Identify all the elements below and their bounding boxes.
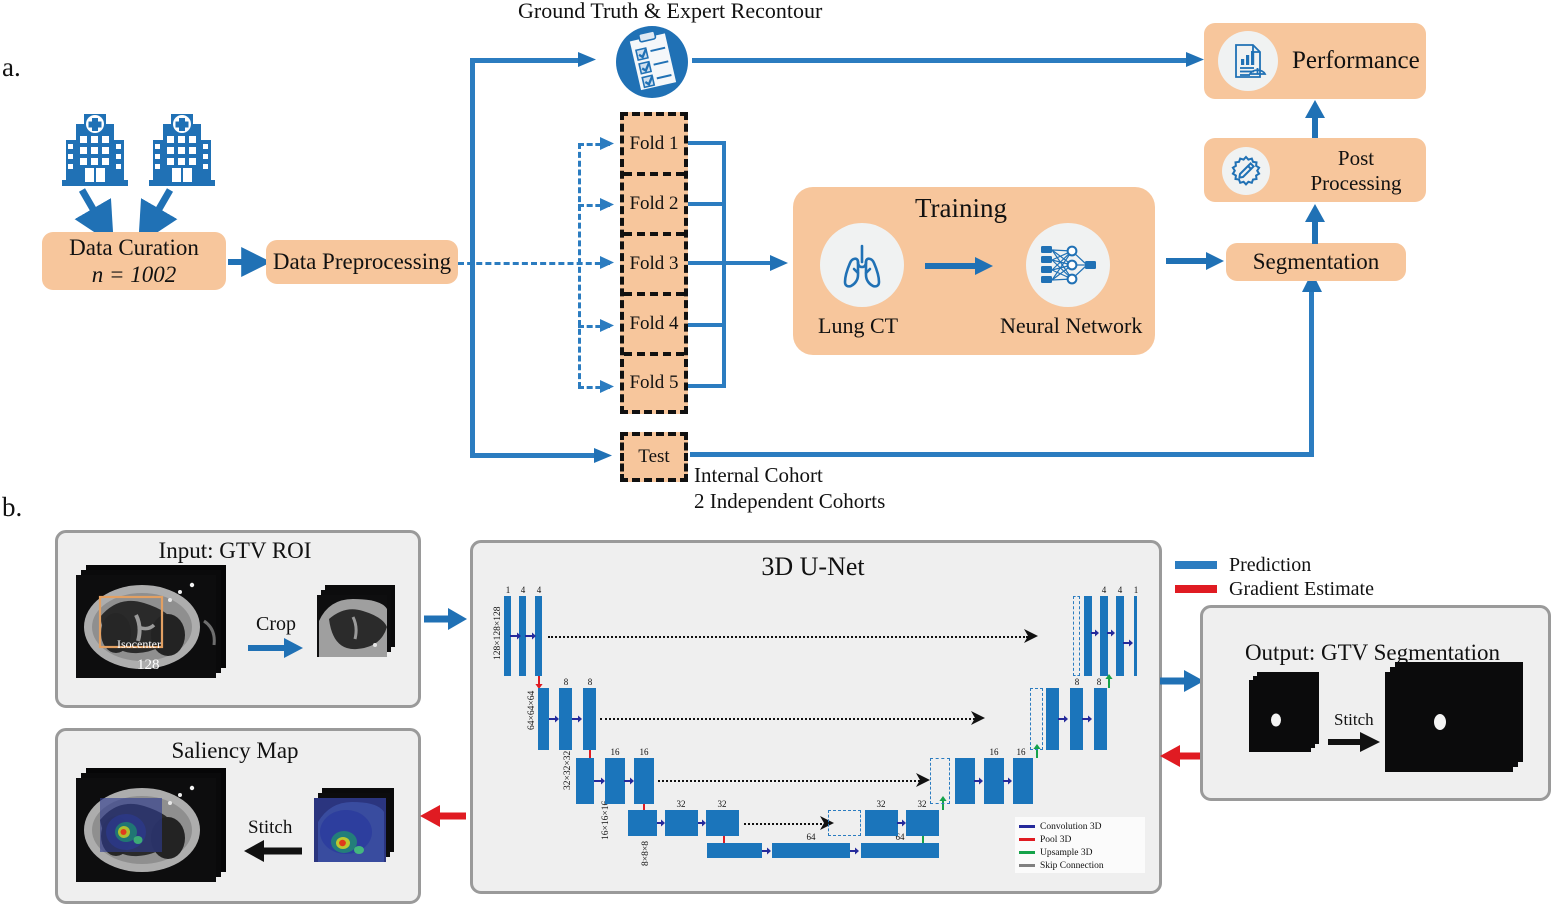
unet-encoder-block <box>634 758 654 804</box>
unet-channel-label: 1 <box>1128 585 1144 595</box>
test-label: Test <box>638 446 669 468</box>
post-processing-line2: Processing <box>1296 171 1416 196</box>
preprocessing-dashed-arrow <box>600 255 618 271</box>
unet-title: 3D U-Net <box>470 552 1156 582</box>
unet-conv-arrow <box>1091 628 1119 638</box>
fold4-collector-line <box>688 323 726 327</box>
unet-conv-arrow <box>549 714 583 724</box>
unet-legend-item: Convolution 3D <box>1019 820 1141 833</box>
unet-output-block <box>1134 596 1137 676</box>
test-box[interactable]: Test <box>620 432 688 482</box>
trunk-to-gt-arrow <box>578 50 600 72</box>
unet-channel-label: 8 <box>1068 677 1086 687</box>
unet-channel-label: 4 <box>515 585 531 595</box>
lungs-icon <box>820 223 904 307</box>
unet-legend-item: Skip Connection <box>1019 859 1141 872</box>
fold-cell[interactable]: Fold 3 <box>624 236 684 296</box>
fold2-dashed-arrow <box>600 197 618 213</box>
saliency-patch-stack <box>312 788 402 872</box>
unet-conv-arrow <box>1058 714 1070 724</box>
unet-channel-label: 16 <box>603 747 627 757</box>
unet-skip-concat-placeholder <box>1030 688 1043 750</box>
test-to-segmentation-line <box>690 452 1314 457</box>
fold-cell[interactable]: Fold 1 <box>624 116 684 176</box>
unet-conv-arrow <box>762 846 773 856</box>
fold-distributor-dashed-line <box>578 143 581 388</box>
post-processing-line1: Post <box>1296 146 1416 171</box>
gradient-estimate-swatch <box>1175 585 1217 593</box>
unet-legend-label: Upsample 3D <box>1040 848 1093 858</box>
post-to-performance-arrow <box>1304 100 1326 140</box>
panel-b-letter: b. <box>2 492 22 523</box>
gradient-to-saliency-arrow <box>420 805 468 827</box>
unet-channel-label: 4 <box>1096 585 1112 595</box>
fold1-collector-line <box>688 141 726 145</box>
prediction-swatch <box>1175 561 1217 569</box>
output-to-unet-gradient-arrow <box>1158 745 1206 767</box>
unet-decoder-block <box>906 810 939 836</box>
neural-network-label: Neural Network <box>1000 313 1142 339</box>
flow-legend: Prediction Gradient Estimate <box>1175 553 1374 601</box>
preprocessing-dashed-line <box>458 262 610 265</box>
flow-legend-label: Gradient Estimate <box>1229 578 1374 601</box>
hospital-icon <box>145 110 219 188</box>
unet-decoder-block <box>865 810 898 836</box>
unet-conv-arrow <box>1003 776 1014 786</box>
flow-legend-label: Prediction <box>1229 554 1311 577</box>
gt-to-performance-line <box>692 58 1190 63</box>
performance-label: Performance <box>1292 47 1420 75</box>
unet-channel-label: 8 <box>557 677 575 687</box>
trunk-to-test-arrow <box>594 446 616 468</box>
unet-conv-arrow <box>657 818 707 828</box>
unet-conv-arrow <box>594 776 635 786</box>
unet-conv-arrow <box>1123 638 1136 648</box>
saliency-stitch-label: Stitch <box>248 817 292 839</box>
unet-conv-arrow <box>510 631 538 641</box>
data-preprocessing-label: Data Preprocessing <box>273 248 451 275</box>
ground-truth-title: Ground Truth & Expert Recontour <box>518 0 822 24</box>
unet-skip-concat-placeholder <box>1073 596 1080 676</box>
fold-label: Fold 1 <box>629 133 678 155</box>
unet-channel-label: 16 <box>982 747 1006 757</box>
unet-legend-item: Pool 3D <box>1019 833 1141 846</box>
unet-skip-connection <box>744 823 822 825</box>
unet-channel-label: 32 <box>707 799 737 809</box>
fold-label: Fold 5 <box>629 372 678 394</box>
neural-network-icon <box>1026 223 1110 307</box>
curation-to-preprocessing-arrow <box>228 252 270 272</box>
unet-skip-arrow <box>1024 629 1040 643</box>
unet-conv-arrow <box>974 776 985 786</box>
crop-arrow <box>248 637 304 659</box>
data-curation-box[interactable]: Data Curation n = 1002 <box>42 232 226 290</box>
upsample-3d-swatch <box>1019 851 1035 854</box>
fold-cell[interactable]: Fold 2 <box>624 176 684 236</box>
unet-encoder-block <box>538 688 549 750</box>
saliency-stitch-arrow <box>242 840 302 862</box>
unet-legend-label: Pool 3D <box>1040 835 1071 845</box>
convolution-3d-swatch <box>1019 825 1035 828</box>
unet-encoder-block <box>706 810 739 836</box>
segmentation-feed-vertical <box>1309 290 1314 457</box>
folds-column: Fold 1 Fold 2 Fold 3 Fold 4 Fold 5 <box>620 112 688 414</box>
trunk-to-gt-line <box>470 58 582 63</box>
output-patch-stack <box>1249 672 1331 764</box>
output-stitch-label: Stitch <box>1334 710 1374 730</box>
unet-legend: Convolution 3D Pool 3D Upsample 3D Skip … <box>1015 817 1145 873</box>
unet-resolution-label: 32×32×32 <box>563 751 573 790</box>
panel-a-letter: a. <box>2 52 21 83</box>
unet-skip-arrow <box>971 711 987 725</box>
data-preprocessing-box[interactable]: Data Preprocessing <box>266 240 458 284</box>
fold2-collector-line <box>688 202 726 206</box>
unet-resolution-label: 128×128×128 <box>493 607 503 660</box>
segmentation-label: Segmentation <box>1253 248 1379 275</box>
unet-skip-connection <box>658 780 920 782</box>
fold-label: Fold 3 <box>629 253 678 275</box>
unet-decoder-block <box>1094 688 1107 750</box>
unet-bottleneck-block <box>772 843 850 858</box>
crop-label: Crop <box>256 613 296 636</box>
output-stitch-arrow <box>1328 732 1382 752</box>
unet-bottleneck-block <box>707 843 762 858</box>
folds-to-training-arrow <box>770 254 792 274</box>
saliency-map-title: Saliency Map <box>55 738 415 764</box>
cohort-note-line2: 2 Independent Cohorts <box>694 488 885 514</box>
unet-skip-connection <box>548 636 1028 638</box>
gear-pen-icon <box>1222 147 1270 195</box>
cropped-ct-stack <box>315 585 401 665</box>
trunk-to-test-line <box>470 453 600 458</box>
isocenter-label: Isocenter <box>117 637 161 652</box>
unet-channel-label: 64 <box>796 832 826 842</box>
unet-conv-arrow <box>897 818 908 828</box>
fold5-collector-line <box>688 384 726 388</box>
unet-decoder-block <box>984 758 1004 804</box>
unet-legend-item: Upsample 3D <box>1019 846 1141 859</box>
output-full-stack <box>1385 662 1530 780</box>
unet-legend-label: Convolution 3D <box>1040 822 1102 832</box>
fold-label: Fold 2 <box>629 193 678 215</box>
unet-decoder-block <box>955 758 975 804</box>
segmentation-to-post-arrow <box>1304 204 1326 246</box>
segmentation-box[interactable]: Segmentation <box>1226 243 1406 281</box>
unet-channel-label: 4 <box>1112 585 1128 595</box>
flow-legend-item: Gradient Estimate <box>1175 577 1374 601</box>
training-inner-arrow <box>925 255 995 277</box>
fold-cell[interactable]: Fold 4 <box>624 296 684 356</box>
fold-label: Fold 4 <box>629 313 678 335</box>
data-curation-n: n = 1002 <box>92 262 177 287</box>
report-chart-icon <box>1218 31 1278 91</box>
unet-encoder-block <box>628 810 657 836</box>
pool-3d-swatch <box>1019 838 1035 841</box>
fold4-dashed-arrow <box>600 318 618 334</box>
input-gtv-roi-title: Input: GTV ROI <box>55 538 415 564</box>
skip-connection-swatch <box>1019 864 1035 867</box>
unet-encoder-block <box>576 758 594 804</box>
unet-resolution-label: 8×8×8 <box>641 841 651 866</box>
unet-channel-label: 8 <box>581 677 599 687</box>
data-curation-label: Data Curation n = 1002 <box>69 234 199 288</box>
unet-channel-label: 16 <box>632 747 656 757</box>
unet-conv-arrow <box>850 846 861 856</box>
hospital-icon <box>58 110 132 188</box>
cohort-note: Internal Cohort 2 Independent Cohorts <box>694 462 885 515</box>
unet-channel-label: 32 <box>666 799 696 809</box>
checklist-clipboard-icon <box>612 22 692 102</box>
post-processing-label: Post Processing <box>1296 146 1416 196</box>
cohort-note-line1: Internal Cohort <box>694 462 885 488</box>
unet-skip-concat-placeholder <box>930 758 950 804</box>
unet-resolution-label: 16×16×16 <box>601 801 611 840</box>
flow-legend-item: Prediction <box>1175 553 1374 577</box>
unet-decoder-block <box>1013 758 1033 804</box>
fold5-dashed-arrow <box>600 379 618 395</box>
fold3-to-training-line <box>688 261 778 265</box>
unet-resolution-label: 64×64×64 <box>527 691 537 730</box>
training-title: Training <box>915 193 1007 224</box>
trunk-vertical-line <box>470 58 475 458</box>
input-size-label: 128 <box>137 657 160 674</box>
unet-channel-label: 1 <box>500 585 516 595</box>
unet-conv-arrow <box>1082 714 1094 724</box>
unet-skip-connection <box>600 718 975 720</box>
input-to-unet-arrow <box>424 608 468 630</box>
unet-skip-concat-placeholder <box>828 810 861 836</box>
hospital-to-curation-arrows <box>70 188 190 236</box>
unet-encoder-block <box>583 688 596 750</box>
unet-channel-label: 32 <box>866 799 896 809</box>
unet-decoder-block <box>861 843 939 858</box>
training-to-segmentation-arrow <box>1166 250 1226 272</box>
fold-cell[interactable]: Fold 5 <box>624 356 684 410</box>
lung-ct-label: Lung CT <box>818 313 898 339</box>
fold1-dashed-arrow <box>600 136 618 152</box>
unet-legend-label: Skip Connection <box>1040 861 1104 871</box>
saliency-ct-stack <box>72 768 234 890</box>
unet-channel-label: 4 <box>531 585 547 595</box>
